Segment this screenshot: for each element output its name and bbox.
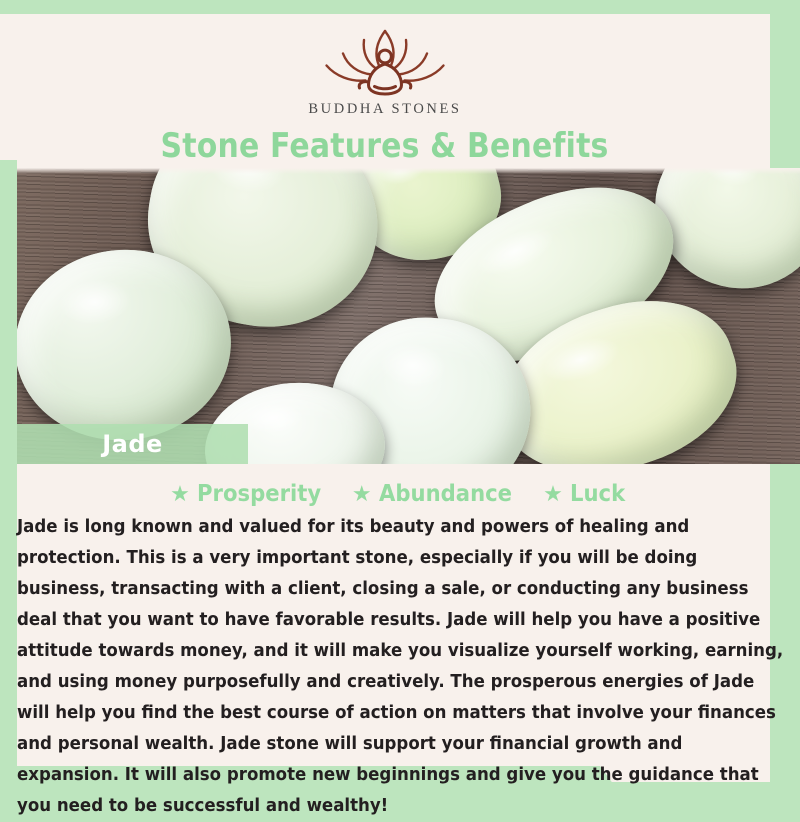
page-title: Stone Features & Benefits — [161, 129, 609, 163]
stone-name: Jade — [102, 430, 163, 458]
benefits-row: ★ Prosperity ★ Abundance ★ Luck — [0, 478, 800, 510]
star-icon: ★ — [543, 483, 563, 505]
title-banner: Stone Features & Benefits — [0, 124, 770, 168]
star-icon: ★ — [170, 483, 190, 505]
benefit-label: Prosperity — [197, 481, 321, 507]
star-icon: ★ — [352, 483, 372, 505]
brand-name: BUDDHA STONES — [308, 101, 461, 118]
benefit-item: ★ Luck — [543, 481, 630, 507]
description-section: Jade is long known and valued for its be… — [17, 512, 789, 822]
benefit-item: ★ Abundance — [352, 481, 523, 507]
stone-name-band: Jade — [17, 424, 248, 464]
benefit-item: ★ Prosperity — [170, 481, 332, 507]
benefit-label: Luck — [570, 481, 625, 507]
benefit-label: Abundance — [379, 481, 512, 507]
stone-photo — [0, 168, 800, 464]
brand-header: BUDDHA STONES — [0, 14, 770, 126]
lotus-meditation-icon — [310, 23, 460, 99]
photo-top-fade — [0, 168, 800, 174]
description-text: Jade is long known and valued for its be… — [17, 512, 786, 822]
